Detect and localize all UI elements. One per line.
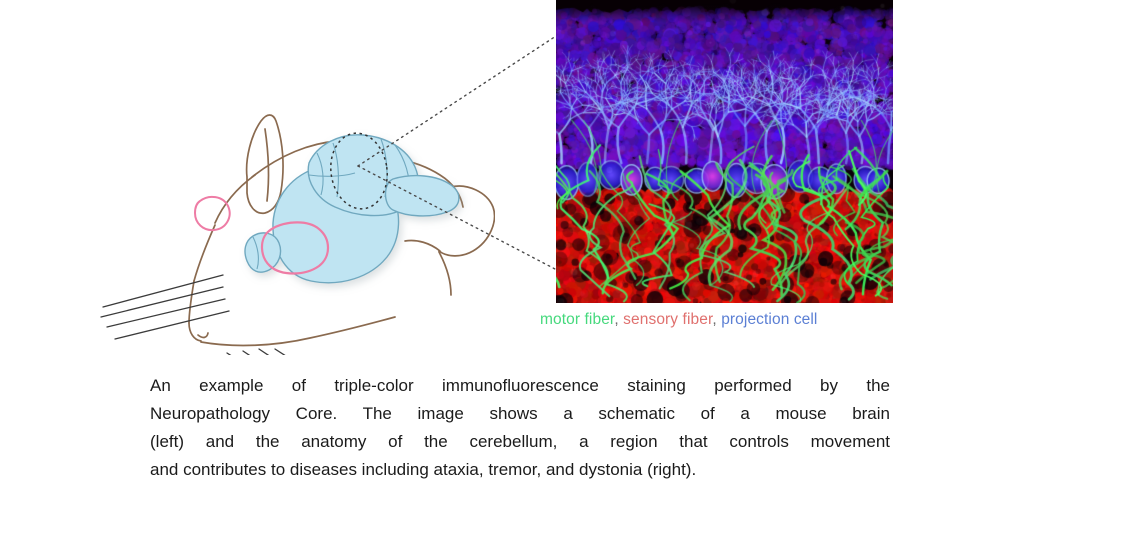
whiskers-lower [227,349,353,355]
figure-caption: An example of triple-color immunofluores… [150,372,890,484]
legend-item-projection-cell: projection cell [721,311,817,328]
mouse-brain-schematic [95,55,495,355]
immunofluorescence-micrograph [556,0,893,303]
legend-item-motor-fiber: motor fiber [540,311,614,328]
caption-line: An example of triple-color immunofluores… [150,372,890,400]
legend-item-sensory-fiber: sensory fiber [623,311,712,328]
caption-line: and contributes to diseases including at… [150,456,890,484]
caption-line: Neuropathology Core. The image shows a s… [150,400,890,428]
micrograph-legend: motor fiber, sensory fiber, projection c… [540,310,920,330]
micrograph-canvas [556,0,893,303]
figure-stage: motor fiber, sensory fiber, projection c… [0,0,1140,540]
whiskers-upper [101,275,229,339]
caption-line: (left) and the anatomy of the cerebellum… [150,428,890,456]
eye-marker [195,197,230,230]
legend-separator: , [712,311,716,328]
legend-separator: , [614,311,618,328]
